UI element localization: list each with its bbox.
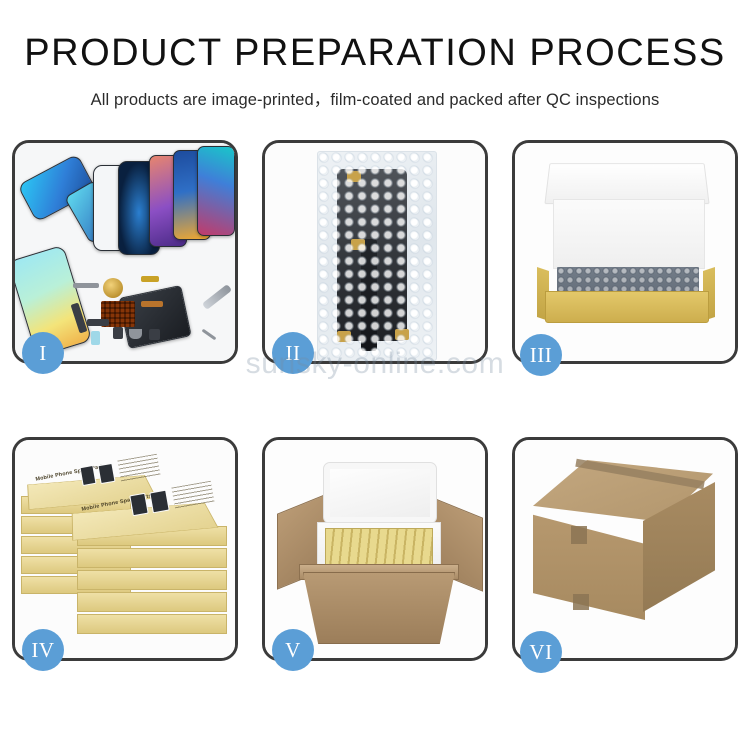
- connector-bottom-left-icon: [337, 331, 351, 342]
- box-spec-lines-a: [117, 454, 160, 483]
- step-image-4: Mobile Phone Spare Parts Mobile Phone Sp…: [15, 440, 235, 658]
- bubble-padding-icon: [557, 267, 699, 293]
- step-panel-4[interactable]: Mobile Phone Spare Parts Mobile Phone Sp…: [12, 437, 238, 661]
- screwdriver-icon: [202, 329, 217, 341]
- foam-sheet-icon: [553, 199, 705, 269]
- speaker-coil-icon: [103, 278, 123, 298]
- page-subtitle: All products are image-printed，film-coat…: [0, 86, 750, 110]
- stacked-box-icon: [77, 592, 227, 612]
- box-lid-icon: [544, 163, 709, 204]
- tweezers-icon: [202, 284, 232, 310]
- step-badge-5: V: [272, 629, 314, 671]
- box-front-panel-icon: [545, 291, 709, 323]
- page-title: PRODUCT PREPARATION PROCESS: [0, 34, 750, 74]
- carton-tape-upper-icon: [571, 526, 587, 544]
- part-small-icon: [87, 319, 109, 326]
- step-badge-1: I: [22, 332, 64, 374]
- step-badge-6: VI: [520, 631, 562, 673]
- stacked-box-icon: [77, 614, 227, 634]
- step-badge-2: II: [272, 332, 314, 374]
- step-panel-1[interactable]: I: [12, 140, 238, 364]
- connector-bottom-right-icon: [395, 329, 409, 340]
- box-artwork-screen-a2: [97, 463, 115, 484]
- step-image-6: [515, 440, 735, 658]
- step-panel-5[interactable]: V: [262, 437, 488, 661]
- part-gold-flex-icon: [141, 276, 159, 282]
- step-panel-3[interactable]: III: [512, 140, 738, 364]
- part-sim-tray-icon: [91, 331, 100, 345]
- connector-top-icon: [347, 171, 361, 182]
- part-copper-flex-icon: [141, 301, 163, 307]
- carton-body-icon: [303, 572, 455, 644]
- box-artwork-screen-b1: [129, 493, 148, 516]
- page-header: PRODUCT PREPARATION PROCESS All products…: [0, 0, 750, 110]
- part-strip-icon: [73, 283, 99, 288]
- step-badge-3: III: [520, 334, 562, 376]
- step-panel-6[interactable]: VI: [512, 437, 738, 661]
- carton-front-face-icon: [533, 508, 645, 620]
- styrofoam-lid-icon: [323, 462, 437, 524]
- part-cup-icon: [129, 329, 142, 339]
- step-image-3: [515, 143, 735, 361]
- step-badge-4: IV: [22, 629, 64, 671]
- packed-boxes-icon: [325, 528, 433, 568]
- carton-tape-lower-icon: [573, 594, 589, 610]
- stacked-box-icon: [77, 548, 227, 568]
- process-steps-grid: I II III: [12, 140, 738, 661]
- box-artwork-screen-a1: [79, 465, 96, 486]
- box-spec-lines-b: [171, 481, 214, 510]
- phone-teal-icon: [197, 146, 235, 236]
- step-image-5: [265, 440, 485, 658]
- step-image-2: [265, 143, 485, 361]
- step-panel-2[interactable]: II: [262, 140, 488, 364]
- step-image-1: [15, 143, 235, 361]
- flex-cable-icon: [361, 239, 377, 351]
- connector-mid-icon: [351, 239, 365, 250]
- stacked-box-icon: [77, 570, 227, 590]
- part-block-icon: [113, 327, 123, 339]
- box-artwork-screen-b2: [149, 490, 169, 514]
- part-ic-icon: [149, 329, 160, 340]
